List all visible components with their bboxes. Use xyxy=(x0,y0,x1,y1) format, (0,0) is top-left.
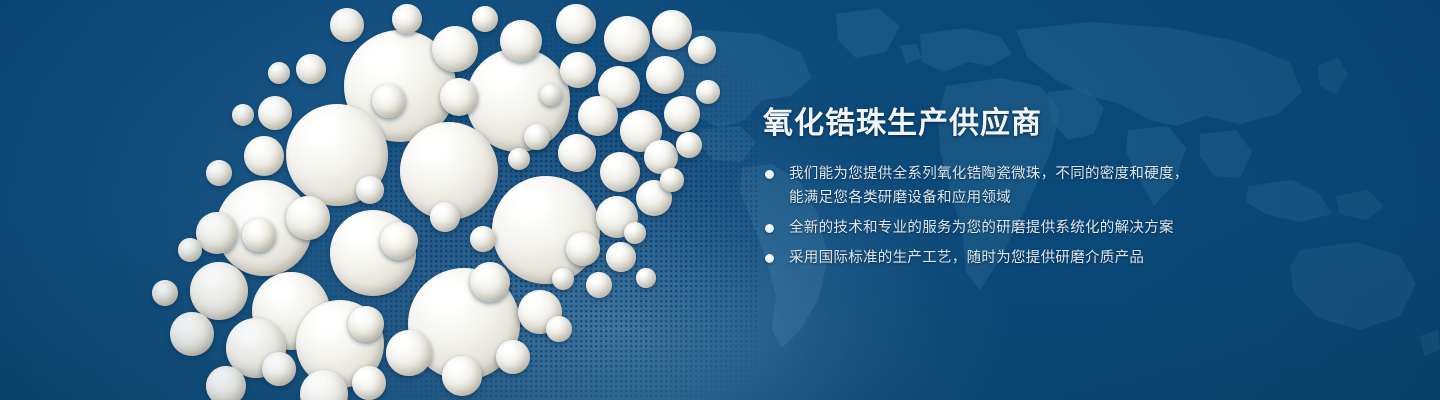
hero-banner: 氧化锆珠生产供应商 我们能为您提供全系列氧化锆陶瓷微珠，不同的密度和硬度， 能满… xyxy=(0,0,1440,400)
bullet-dot-icon xyxy=(765,170,774,179)
list-item: 采用国际标准的生产工艺，随时为您提供研磨介质产品 xyxy=(763,246,1323,270)
banner-copy: 氧化锆珠生产供应商 我们能为您提供全系列氧化锆陶瓷微珠，不同的密度和硬度， 能满… xyxy=(763,104,1323,276)
page-title: 氧化锆珠生产供应商 xyxy=(763,104,1323,144)
bullet-text-line-1: 全新的技术和专业的服务为您的研磨提供系统化的解决方案 xyxy=(789,220,1174,236)
bullet-text-line-2: 能满足您各类研磨设备和应用领域 xyxy=(789,186,1323,210)
feature-bullet-list: 我们能为您提供全系列氧化锆陶瓷微珠，不同的密度和硬度， 能满足您各类研磨设备和应… xyxy=(763,162,1323,270)
bullet-text-line-1: 采用国际标准的生产工艺，随时为您提供研磨介质产品 xyxy=(789,250,1144,266)
bullet-dot-icon xyxy=(765,254,774,263)
list-item: 全新的技术和专业的服务为您的研磨提供系统化的解决方案 xyxy=(763,216,1323,240)
list-item: 我们能为您提供全系列氧化锆陶瓷微珠，不同的密度和硬度， 能满足您各类研磨设备和应… xyxy=(763,162,1323,210)
bullet-text-line-1: 我们能为您提供全系列氧化锆陶瓷微珠，不同的密度和硬度， xyxy=(789,166,1189,182)
bullet-dot-icon xyxy=(765,224,774,233)
